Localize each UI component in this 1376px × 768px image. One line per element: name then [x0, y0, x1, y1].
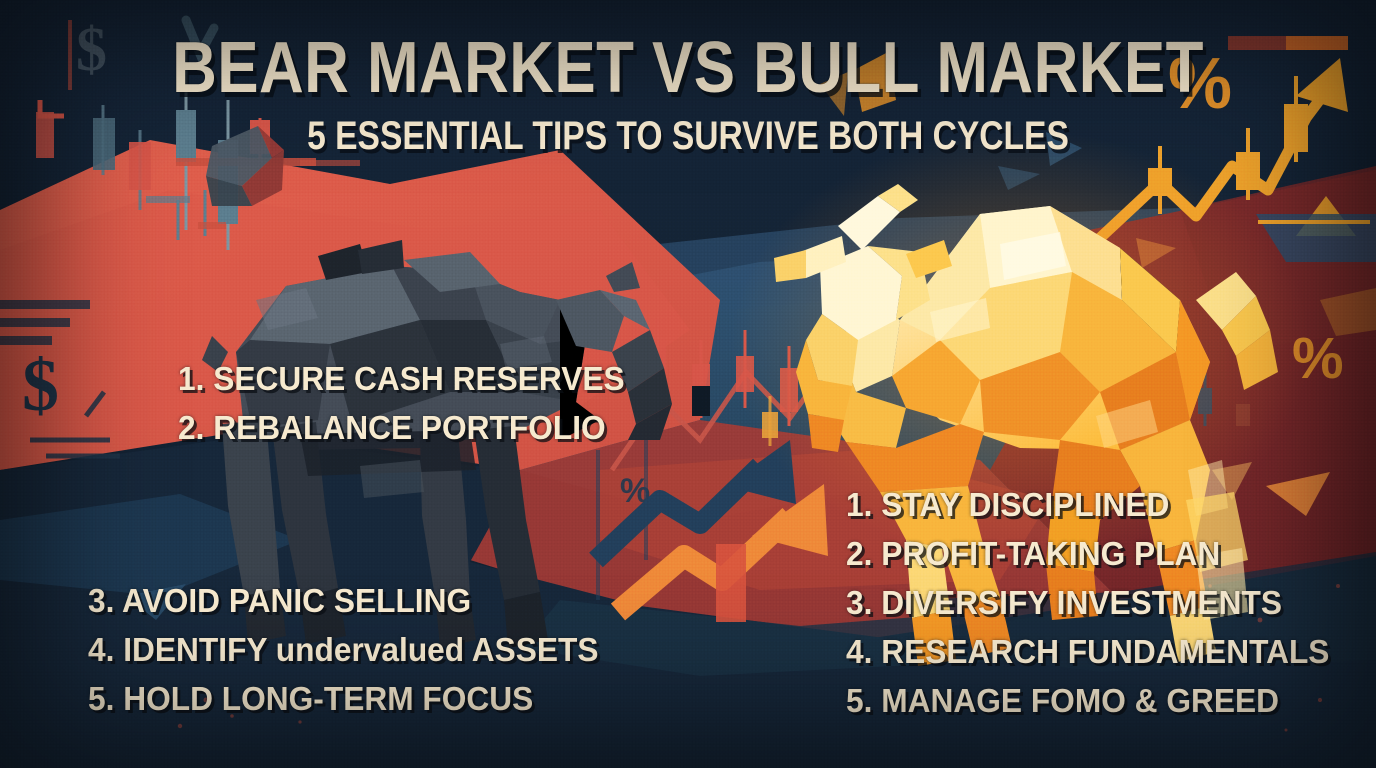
list-item: 1. STAY DISCIPLINED: [846, 484, 1329, 527]
list-item: 3. AVOID PANIC SELLING: [88, 580, 599, 623]
list-item: 4. IDENTIFY undervalued ASSETS: [88, 629, 599, 672]
list-item: 5. MANAGE FOMO & GREED: [846, 680, 1329, 723]
bull-tips-list: 1. STAY DISCIPLINED 2. PROFIT-TAKING PLA…: [846, 484, 1329, 728]
list-item: 5. HOLD LONG-TERM FOCUS: [88, 678, 599, 721]
list-item: 4. RESEARCH FUNDAMENTALS: [846, 631, 1329, 674]
page-subtitle: 5 ESSENTIAL TIPS TO SURVIVE BOTH CYCLES: [110, 116, 1266, 156]
list-item: 3. DIVERSIFY INVESTMENTS: [846, 582, 1329, 625]
list-item: 2. PROFIT-TAKING PLAN: [846, 533, 1329, 576]
page-title: BEAR MARKET VS BULL MARKET: [96, 32, 1279, 104]
infographic-poster: $ $ % % %: [0, 0, 1376, 768]
list-item: 1. SECURE CASH RESERVES: [178, 358, 625, 401]
list-item: 2. REBALANCE PORTFOLIO: [178, 407, 625, 450]
bear-tips-upper: 1. SECURE CASH RESERVES 2. REBALANCE POR…: [178, 358, 625, 456]
bear-tips-lower: 3. AVOID PANIC SELLING 4. IDENTIFY under…: [88, 580, 599, 727]
